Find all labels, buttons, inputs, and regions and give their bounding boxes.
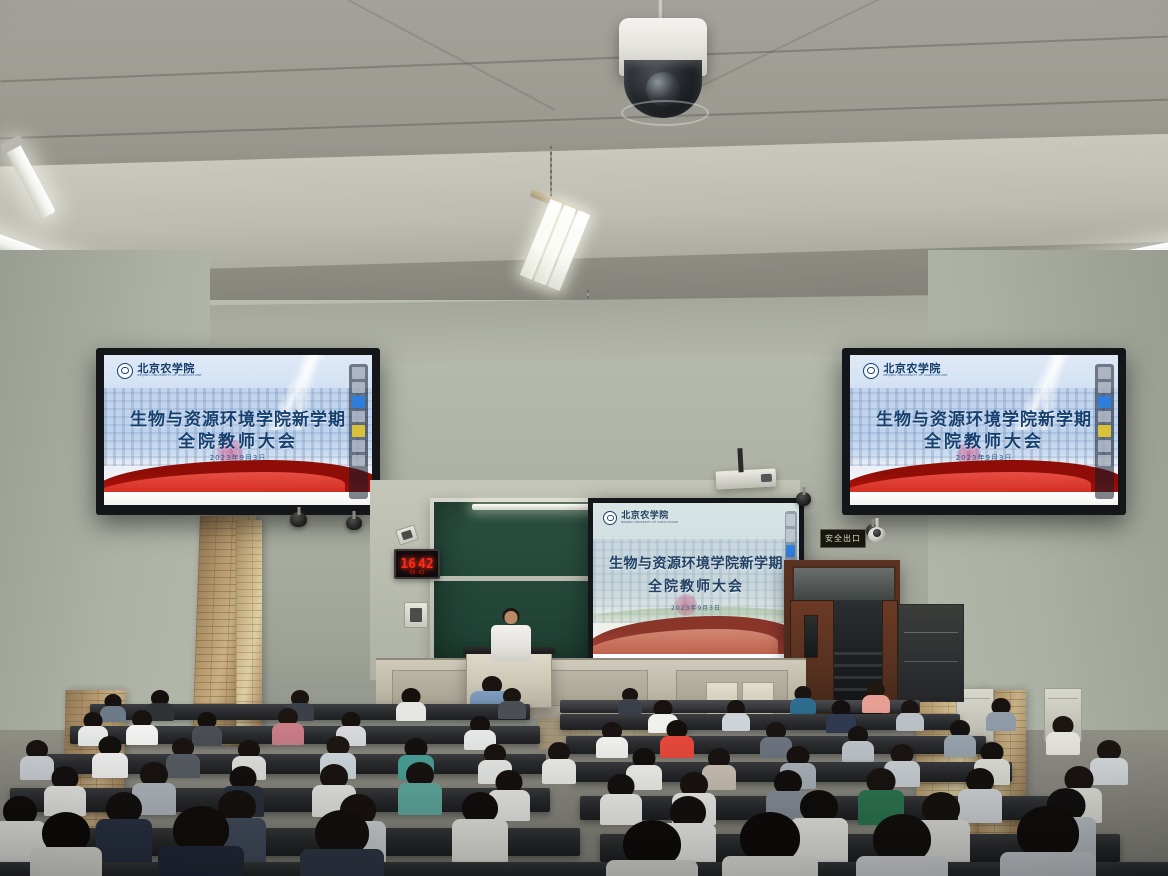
audience-person — [986, 698, 1016, 730]
audience-person — [722, 700, 750, 730]
audience-person — [96, 792, 152, 862]
osd-key-ch-down[interactable] — [352, 440, 366, 452]
slide-white-base — [850, 492, 1118, 506]
audience-person — [600, 774, 642, 824]
audience-person — [596, 722, 628, 756]
board-lamp — [472, 504, 602, 510]
osd-key-ch-up[interactable] — [352, 425, 366, 437]
audience-person — [542, 742, 576, 782]
audience-person-foreground — [300, 810, 384, 876]
tv-osd-menu[interactable] — [349, 364, 368, 499]
presenter — [488, 608, 534, 662]
side-board — [898, 604, 964, 702]
osd-key-ch-up[interactable] — [1098, 425, 1112, 437]
audience-person — [44, 766, 86, 814]
osd-key-menu[interactable] — [352, 367, 366, 379]
osd-key-menu[interactable] — [786, 514, 795, 526]
exit-sign: 安全出口 — [820, 529, 866, 548]
osd-key-vol-up[interactable] — [352, 396, 366, 408]
audience-person — [842, 726, 874, 760]
audience-person — [272, 708, 304, 744]
logo-subtext: BEIJING UNIVERSITY OF AGRICULTURE — [883, 375, 947, 378]
wall-speaker-right — [796, 492, 811, 506]
lecture-hall-photo: 北京农学院 BEIJING UNIVERSITY OF AGRICULTURE … — [0, 0, 1168, 876]
wall-tv-right[interactable]: 北京农学院 BEIJING UNIVERSITY OF AGRICULTURE … — [842, 348, 1126, 515]
university-logo-icon — [117, 363, 133, 379]
audience-person-foreground — [856, 814, 948, 876]
audience-person-foreground — [606, 820, 698, 876]
osd-key-source[interactable] — [786, 529, 795, 541]
wall-speaker-left-2 — [346, 516, 362, 530]
slide-title-line2: 全院教师大会 — [850, 427, 1118, 452]
exit-sign-label: 安全出口 — [825, 535, 861, 543]
osd-key-power[interactable] — [352, 455, 366, 467]
audience-person — [452, 792, 508, 864]
wall-speaker-left — [290, 512, 307, 527]
audience-person — [944, 720, 976, 756]
audience-person — [790, 686, 816, 712]
ceiling-projector — [716, 468, 777, 489]
clock-hours: 16 — [400, 558, 416, 571]
slide-logo: 北京农学院 BEIJING UNIVERSITY OF AGRICULTURE — [117, 363, 201, 379]
door-transom-window — [792, 566, 896, 602]
osd-key-power[interactable] — [1098, 455, 1112, 467]
slide-title-line2: 全院教师大会 — [104, 427, 372, 452]
slide-left-tv: 北京农学院 BEIJING UNIVERSITY OF AGRICULTURE … — [104, 355, 372, 505]
door-window — [804, 615, 818, 658]
slide-white-base — [104, 492, 372, 506]
audience-person — [660, 720, 694, 756]
osd-key-menu[interactable] — [1098, 367, 1112, 379]
audience-person — [396, 688, 426, 720]
audience-person — [398, 762, 442, 814]
logo-subtext: BEIJING UNIVERSITY OF AGRICULTURE — [621, 521, 678, 523]
slide-title-line1: 生物与资源环境学院新学期 — [850, 405, 1118, 430]
slide-title-line2: 全院教师大会 — [593, 576, 799, 596]
slide-projection: 北京农学院 BEIJING UNIVERSITY OF AGRICULTURE … — [593, 503, 799, 665]
audience-person — [618, 688, 642, 712]
slide-logo: 北京农学院 BEIJING UNIVERSITY OF AGRICULTURE — [863, 363, 947, 379]
osd-key-vol-down[interactable] — [352, 411, 366, 423]
university-logo-icon — [603, 511, 617, 525]
wall-tv-left[interactable]: 北京农学院 BEIJING UNIVERSITY OF AGRICULTURE … — [96, 348, 380, 515]
audience-person-foreground — [1000, 806, 1096, 876]
clock-minutes: 42 — [418, 558, 434, 571]
audience-person — [92, 736, 128, 776]
osd-key-source[interactable] — [1098, 382, 1112, 394]
hanging-light-1 — [500, 148, 610, 298]
slide-date: 2023年9月3日 — [593, 603, 799, 612]
audience-person — [896, 700, 924, 730]
presenter-head — [505, 611, 518, 624]
presenter-body — [491, 625, 531, 661]
projection-screen: 北京农学院 BEIJING UNIVERSITY OF AGRICULTURE … — [588, 498, 804, 670]
camera-mount-pipe — [657, 0, 664, 20]
slide-title-line1: 生物与资源环境学院新学期 — [104, 405, 372, 430]
led-wall-clock: 16 42 09-03 — [394, 549, 440, 579]
wall-dome-camera — [868, 518, 886, 540]
audience-person-foreground — [722, 812, 818, 876]
tv-osd-menu[interactable] — [1095, 364, 1114, 499]
audience-person — [498, 688, 526, 718]
logo-subtext: BEIJING UNIVERSITY OF AGRICULTURE — [137, 375, 201, 378]
osd-key-vol-down[interactable] — [1098, 411, 1112, 423]
slide-logo: 北京农学院 BEIJING UNIVERSITY OF AGRICULTURE — [603, 511, 678, 525]
slide-title-line1: 生物与资源环境学院新学期 — [593, 553, 799, 573]
wall-switch-plate[interactable] — [404, 602, 428, 628]
audience-person — [126, 710, 158, 744]
osd-key-vol-up[interactable] — [1098, 396, 1112, 408]
osd-key-ch-down[interactable] — [1098, 440, 1112, 452]
audience-person — [862, 682, 890, 710]
audience-person — [1046, 716, 1080, 754]
camera-trim-ring — [621, 100, 709, 126]
university-logo-icon — [863, 363, 879, 379]
slide-right-tv: 北京农学院 BEIJING UNIVERSITY OF AGRICULTURE … — [850, 355, 1118, 505]
projector-lens-icon — [761, 474, 772, 482]
audience-person-foreground — [158, 806, 244, 876]
clock-date-row: 09-03 — [396, 571, 438, 576]
osd-key-vol-up[interactable] — [786, 545, 795, 557]
audience-person-foreground — [30, 812, 102, 876]
osd-key-source[interactable] — [352, 382, 366, 394]
